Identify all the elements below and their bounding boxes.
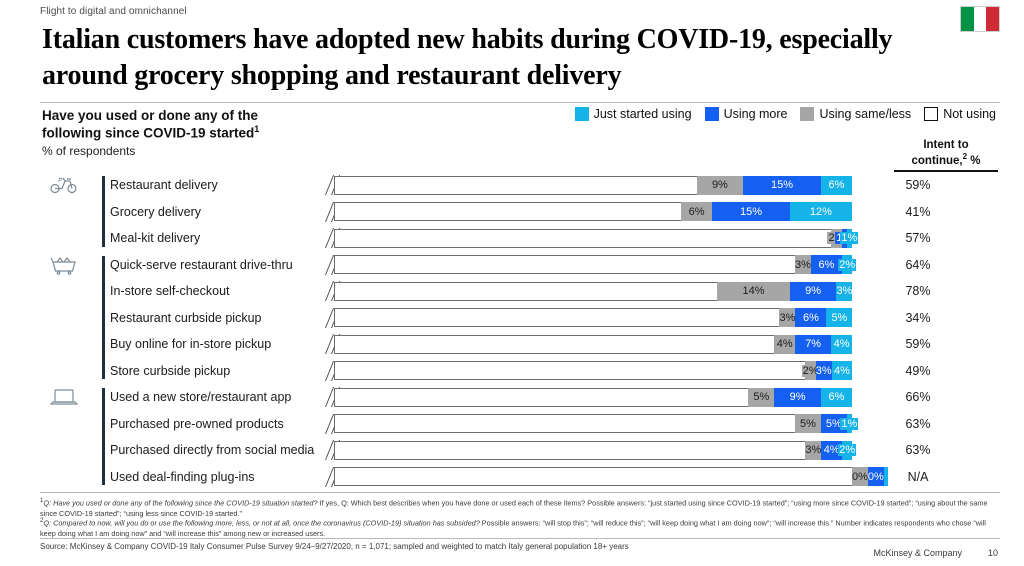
chart-row: Used a new store/restaurant app5%9%6%66% xyxy=(40,384,1000,411)
segment-using-same-less: 5% xyxy=(795,414,821,433)
segment-not-using xyxy=(334,308,779,327)
legend-label-not-using: Not using xyxy=(943,107,996,121)
icon-spacer xyxy=(40,278,88,305)
icon-spacer xyxy=(40,225,88,252)
segment-value-label: 9% xyxy=(805,285,821,297)
segment-just-started-using: 2% xyxy=(842,441,852,460)
intent-to-continue-value: 59% xyxy=(866,331,970,358)
segment-using-same-less: 3% xyxy=(795,255,811,274)
segment-just-started-using: 4% xyxy=(831,335,852,354)
chart-row: Purchased pre-owned products5%5%1%63% xyxy=(40,411,1000,438)
segment-just-started-using: 6% xyxy=(821,176,852,195)
segment-value-label: 6% xyxy=(689,206,705,218)
scooter-delivery-icon xyxy=(40,172,88,199)
intent-to-continue-value: N/A xyxy=(866,464,970,491)
segment-value-label: 3% xyxy=(836,285,852,297)
segment-using-more: 9% xyxy=(790,282,837,301)
segment-value-label: 5% xyxy=(826,418,842,430)
segment-not-using xyxy=(334,255,795,274)
question-line-2: following since COVID-19 started xyxy=(42,126,254,141)
intent-to-continue-value: 78% xyxy=(866,278,970,305)
segment-value-label: 3% xyxy=(779,312,795,324)
segment-using-more: 6% xyxy=(795,308,826,327)
intent-to-continue-header: Intent to continue,2 % xyxy=(894,138,998,169)
legend-swatch-using-more xyxy=(705,107,719,121)
segment-not-using xyxy=(334,414,795,433)
segment-using-same-less: 2% xyxy=(805,361,815,380)
chart-row: Grocery delivery6%15%12%41% xyxy=(40,199,1000,226)
segment-using-same-less: 3% xyxy=(805,441,821,460)
group-accent-bar xyxy=(102,388,105,485)
footnote-2: 2Q: Compared to now, will you do or use … xyxy=(40,517,1002,539)
chart-row-label: Purchased pre-owned products xyxy=(110,411,315,438)
chart-row-bars: 0%0% xyxy=(322,464,852,491)
legend-label-just-started-using: Just started using xyxy=(594,107,692,121)
segment-not-using xyxy=(334,335,774,354)
shopping-cart-icon xyxy=(40,252,88,279)
intent-to-continue-value: 63% xyxy=(866,411,970,438)
segment-not-using xyxy=(334,388,748,407)
chart-row-bars: 9%15%6% xyxy=(322,172,852,199)
segment-value-label: 3% xyxy=(805,444,821,456)
chart-row: Store curbside pickup2%3%4%49% xyxy=(40,358,1000,385)
intent-to-continue-value: 64% xyxy=(866,252,970,279)
segment-not-using xyxy=(334,282,717,301)
icon-spacer xyxy=(40,411,88,438)
segment-value-label: 15% xyxy=(740,206,762,218)
stacked-bar-chart: Restaurant delivery9%15%6%59%Grocery del… xyxy=(40,172,1000,490)
italian-flag-icon xyxy=(960,6,1000,32)
segment-value-label: 1% xyxy=(840,418,858,430)
chart-row-label: Meal-kit delivery xyxy=(110,225,315,252)
segment-using-same-less: 3% xyxy=(779,308,795,327)
brand-mark: McKinsey & Company xyxy=(873,548,962,558)
intent-to-continue-value: 66% xyxy=(866,384,970,411)
segment-value-label: 7% xyxy=(805,338,821,350)
laptop-icon xyxy=(40,384,88,411)
segment-value-label: 12% xyxy=(810,206,832,218)
icon-spacer xyxy=(40,464,88,491)
divider-source xyxy=(40,538,1000,539)
legend-item-not-using: Not using xyxy=(924,107,996,121)
chart-row-bars: 5%5%1% xyxy=(322,411,852,438)
chart-row-label: In-store self-checkout xyxy=(110,278,315,305)
segment-value-label: 1% xyxy=(840,232,858,244)
chart-row: Used deal-finding plug-ins0%0%N/A xyxy=(40,464,1000,491)
segment-just-started-using: 5% xyxy=(826,308,852,327)
legend-swatch-not-using xyxy=(924,107,938,121)
chart-row-bars: 4%7%4% xyxy=(322,331,852,358)
intent-to-continue-value: 57% xyxy=(866,225,970,252)
chart-row-label: Restaurant delivery xyxy=(110,172,315,199)
icon-spacer xyxy=(40,437,88,464)
page-number: 10 xyxy=(988,548,998,558)
segment-using-same-less: 6% xyxy=(681,202,712,221)
chart-legend: Just started using Using more Using same… xyxy=(575,107,996,121)
chart-row: Meal-kit delivery2%1%1%57% xyxy=(40,225,1000,252)
segment-using-same-less: 14% xyxy=(717,282,790,301)
chart-row-label: Purchased directly from social media xyxy=(110,437,315,464)
segment-not-using xyxy=(334,202,681,221)
chart-question: Have you used or done any of the followi… xyxy=(42,107,342,142)
segment-just-started-using: 12% xyxy=(790,202,852,221)
legend-label-using-same-less: Using same/less xyxy=(819,107,911,121)
chart-row-bars: 5%9%6% xyxy=(322,384,852,411)
segment-value-label: 14% xyxy=(743,285,765,297)
chart-row-bars: 2%3%4% xyxy=(322,358,852,385)
segment-using-more: 15% xyxy=(743,176,821,195)
segment-not-using xyxy=(334,467,852,486)
segment-using-more: 7% xyxy=(795,335,831,354)
chart-row-bars: 3%6%2% xyxy=(322,252,852,279)
segment-not-using xyxy=(334,176,697,195)
footnote-1-question: Q: Have you used or done any of the foll… xyxy=(43,498,317,507)
segment-value-label: 5% xyxy=(753,391,769,403)
segment-using-same-less: 4% xyxy=(774,335,795,354)
segment-just-started-using: 2% xyxy=(842,255,852,274)
question-footnote-marker: 1 xyxy=(254,124,259,134)
chart-row: Buy online for in-store pickup4%7%4%59% xyxy=(40,331,1000,358)
segment-value-label: 2% xyxy=(838,444,856,456)
segment-value-label: 6% xyxy=(819,259,835,271)
intent-to-continue-value: 34% xyxy=(866,305,970,332)
chart-row-bars: 2%1%1% xyxy=(322,225,852,252)
chart-row-bars: 6%15%12% xyxy=(322,199,852,226)
segment-value-label: 9% xyxy=(712,179,728,191)
chart-row-bars: 14%9%3% xyxy=(322,278,852,305)
legend-item-using-same-less: Using same/less xyxy=(800,107,911,121)
source-note: Source: McKinsey & Company COVID-19 Ital… xyxy=(40,542,629,551)
segment-value-label: 6% xyxy=(803,312,819,324)
legend-swatch-using-same-less xyxy=(800,107,814,121)
chart-row-label: Restaurant curbside pickup xyxy=(110,305,315,332)
segment-using-more: 3% xyxy=(816,361,832,380)
legend-item-just-started-using: Just started using xyxy=(575,107,692,121)
chart-row-bars: 3%6%5% xyxy=(322,305,852,332)
chart-row-bars: 3%4%2% xyxy=(322,437,852,464)
segment-value-label: 6% xyxy=(828,391,844,403)
segment-value-label: 5% xyxy=(831,312,847,324)
segment-using-same-less: 9% xyxy=(697,176,744,195)
segment-value-label: 4% xyxy=(834,338,850,350)
segment-value-label: 2% xyxy=(838,259,856,271)
chart-row: Restaurant delivery9%15%6%59% xyxy=(40,172,1000,199)
intent-to-continue-value: 59% xyxy=(866,172,970,199)
segment-just-started-using: 4% xyxy=(832,361,853,380)
segment-just-started-using: 6% xyxy=(821,388,852,407)
segment-using-same-less: 5% xyxy=(748,388,774,407)
segment-value-label: 3% xyxy=(816,365,832,377)
intent-header-line-1: Intent to xyxy=(923,139,968,151)
segment-value-label: 4% xyxy=(834,365,850,377)
chart-row-label: Used deal-finding plug-ins xyxy=(110,464,315,491)
chart-row: Quick-serve restaurant drive-thru3%6%2%6… xyxy=(40,252,1000,279)
segment-not-using xyxy=(334,441,805,460)
icon-spacer xyxy=(40,358,88,385)
legend-swatch-just-started-using xyxy=(575,107,589,121)
segment-just-started-using: 1% xyxy=(847,229,852,248)
group-accent-bar xyxy=(102,176,105,247)
icon-spacer xyxy=(40,199,88,226)
segment-just-started-using: 1% xyxy=(847,414,852,433)
divider-footnotes xyxy=(40,492,1000,493)
icon-spacer xyxy=(40,331,88,358)
chart-row-label: Store curbside pickup xyxy=(110,358,315,385)
segment-not-using xyxy=(334,229,831,248)
intent-to-continue-value: 63% xyxy=(866,437,970,464)
footnote-1: 1Q: Have you used or done any of the fol… xyxy=(40,497,1002,519)
intent-header-unit: % xyxy=(967,155,980,167)
intent-to-continue-value: 41% xyxy=(866,199,970,226)
chart-row-label: Quick-serve restaurant drive-thru xyxy=(110,252,315,279)
chart-row-label: Used a new store/restaurant app xyxy=(110,384,315,411)
segment-value-label: 4% xyxy=(824,444,840,456)
chart-row-label: Grocery delivery xyxy=(110,199,315,226)
footnote-2-question: Q: Compared to now, will you do or use t… xyxy=(43,518,479,527)
intent-to-continue-value: 49% xyxy=(866,358,970,385)
slide: Flight to digital and omnichannel Italia… xyxy=(0,0,1024,566)
chart-row-label: Buy online for in-store pickup xyxy=(110,331,315,358)
page-title: Italian customers have adopted new habit… xyxy=(42,22,942,95)
slide-kicker: Flight to digital and omnichannel xyxy=(40,6,187,17)
segment-value-label: 3% xyxy=(795,259,811,271)
divider-top xyxy=(40,102,1000,103)
segment-value-label: 6% xyxy=(828,179,844,191)
chart-row: Restaurant curbside pickup3%6%5%34% xyxy=(40,305,1000,332)
segment-value-label: 15% xyxy=(771,179,793,191)
chart-subtitle: % of respondents xyxy=(42,144,135,158)
icon-spacer xyxy=(40,305,88,332)
group-accent-bar xyxy=(102,256,105,380)
segment-just-started-using: 3% xyxy=(836,282,852,301)
legend-label-using-more: Using more xyxy=(724,107,788,121)
segment-using-more: 9% xyxy=(774,388,821,407)
legend-item-using-more: Using more xyxy=(705,107,788,121)
intent-header-line-2: continue, xyxy=(912,155,963,167)
segment-value-label: 5% xyxy=(800,418,816,430)
segment-value-label: 4% xyxy=(777,338,793,350)
segment-value-label: 9% xyxy=(790,391,806,403)
question-line-1: Have you used or done any of the xyxy=(42,108,258,123)
chart-row: Purchased directly from social media3%4%… xyxy=(40,437,1000,464)
segment-not-using xyxy=(334,361,805,380)
chart-row: In-store self-checkout14%9%3%78% xyxy=(40,278,1000,305)
segment-using-more: 15% xyxy=(712,202,790,221)
